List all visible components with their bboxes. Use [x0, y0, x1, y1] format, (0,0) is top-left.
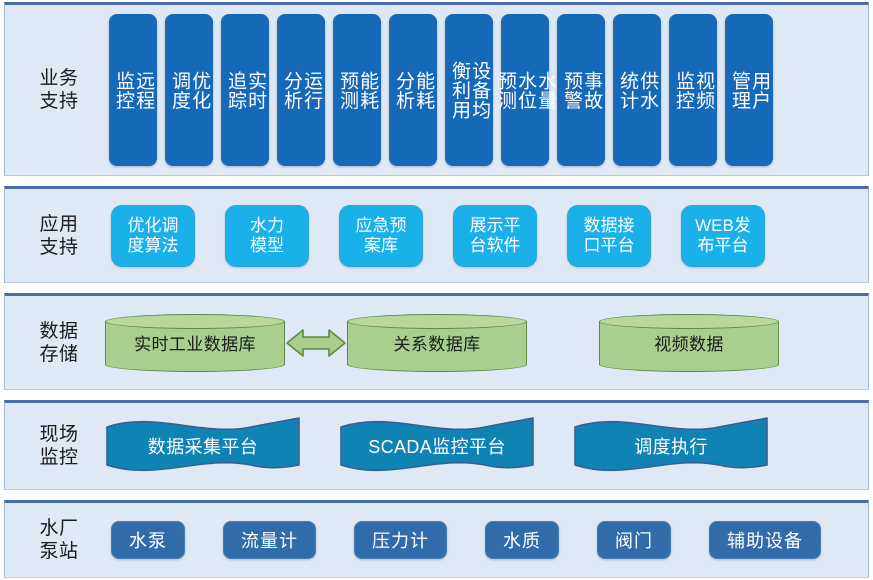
plant-button-auxiliary-equipment[interactable]: 辅助设备	[709, 521, 821, 559]
cylinder-label: 关系数据库	[347, 314, 527, 372]
plant-button-water-quality[interactable]: 水质	[485, 521, 559, 559]
business-card-optimized-dispatch[interactable]: 优化 调度	[165, 14, 213, 166]
wave-banner-dispatch-execution[interactable]: 调度执行	[573, 415, 769, 477]
cylinder-label: 视频数据	[599, 314, 779, 372]
app-box-data-interface-platform[interactable]: 数据接 口平台	[567, 205, 651, 267]
plant-button-water-pump[interactable]: 水泵	[111, 521, 185, 559]
business-card-equipment-balance[interactable]: 设备均 衡利用	[445, 14, 493, 166]
layer-label-business: 业务 支持	[19, 67, 99, 113]
layer-band-plant-station: 水厂 泵站 水泵 流量计 压力计 水质 阀门 辅助设备	[4, 500, 869, 578]
business-card-energy-analysis[interactable]: 能耗 分析	[389, 14, 437, 166]
double-headed-arrow-icon	[285, 323, 347, 363]
layer-label-application: 应用 支持	[19, 212, 99, 258]
app-box-dispatch-algorithm[interactable]: 优化调 度算法	[111, 205, 195, 267]
business-card-accident-warning[interactable]: 事故 预警	[557, 14, 605, 166]
layer-band-data-storage: 数据 存储 实时工业数据库 关系数据库	[4, 293, 869, 390]
cylinder-realtime-industrial-db[interactable]: 实时工业数据库	[105, 314, 285, 372]
wave-banner-label: 调度执行	[573, 415, 769, 477]
business-card-supply-statistics[interactable]: 供水 统计	[613, 14, 661, 166]
layer-items-business: 远程 监控 优化 调度 实时 追踪 运行 分析 能耗 预测 能耗 分析 设备均 …	[105, 5, 860, 175]
layer-label-data-storage: 数据 存储	[19, 319, 99, 365]
layer-items-field-monitoring: 数据采集平台 SCADA监控平台 调度执行	[105, 403, 860, 489]
business-card-user-management[interactable]: 用户 管理	[725, 14, 773, 166]
layer-band-business: 业务 支持 远程 监控 优化 调度 实时 追踪 运行 分析 能耗 预测 能耗 分…	[4, 2, 869, 176]
layer-label-field-monitoring: 现场 监控	[19, 423, 99, 469]
layer-items-data-storage: 实时工业数据库 关系数据库 视频数据	[105, 296, 860, 389]
wave-banner-label: 数据采集平台	[105, 415, 301, 477]
layer-band-field-monitoring: 现场 监控 数据采集平台 SCADA监控平台 调度执行	[4, 400, 869, 490]
business-card-operation-analysis[interactable]: 运行 分析	[277, 14, 325, 166]
wave-banner-label: SCADA监控平台	[339, 415, 535, 477]
business-card-realtime-tracking[interactable]: 实时 追踪	[221, 14, 269, 166]
business-card-energy-forecast[interactable]: 能耗 预测	[333, 14, 381, 166]
layer-items-plant-station: 水泵 流量计 压力计 水质 阀门 辅助设备	[105, 503, 860, 577]
app-box-hydraulic-model[interactable]: 水力 模型	[225, 205, 309, 267]
cylinder-relational-db[interactable]: 关系数据库	[347, 314, 527, 372]
layer-label-plant-station: 水厂 泵站	[19, 517, 99, 563]
wave-banner-data-acquisition-platform[interactable]: 数据采集平台	[105, 415, 301, 477]
business-card-water-level-forecast[interactable]: 水量 水位 预测	[501, 14, 549, 166]
plant-button-flow-meter[interactable]: 流量计	[223, 521, 316, 559]
architecture-diagram: 业务 支持 远程 监控 优化 调度 实时 追踪 运行 分析 能耗 预测 能耗 分…	[0, 0, 873, 580]
plant-button-pressure-gauge[interactable]: 压力计	[354, 521, 447, 559]
app-box-web-publishing-platform[interactable]: WEB发 布平台	[681, 205, 765, 267]
business-card-video-monitoring[interactable]: 视频 监控	[669, 14, 717, 166]
cylinder-label: 实时工业数据库	[105, 314, 285, 372]
layer-items-application: 优化调 度算法 水力 模型 应急预 案库 展示平 台软件 数据接 口平台 WEB…	[105, 189, 860, 282]
wave-banner-scada-platform[interactable]: SCADA监控平台	[339, 415, 535, 477]
layer-band-application: 应用 支持 优化调 度算法 水力 模型 应急预 案库 展示平 台软件 数据接 口…	[4, 186, 869, 283]
app-box-display-platform-software[interactable]: 展示平 台软件	[453, 205, 537, 267]
plant-button-valve[interactable]: 阀门	[597, 521, 671, 559]
business-card-remote-monitoring[interactable]: 远程 监控	[109, 14, 157, 166]
app-box-emergency-plan-library[interactable]: 应急预 案库	[339, 205, 423, 267]
cylinder-video-data[interactable]: 视频数据	[599, 314, 779, 372]
